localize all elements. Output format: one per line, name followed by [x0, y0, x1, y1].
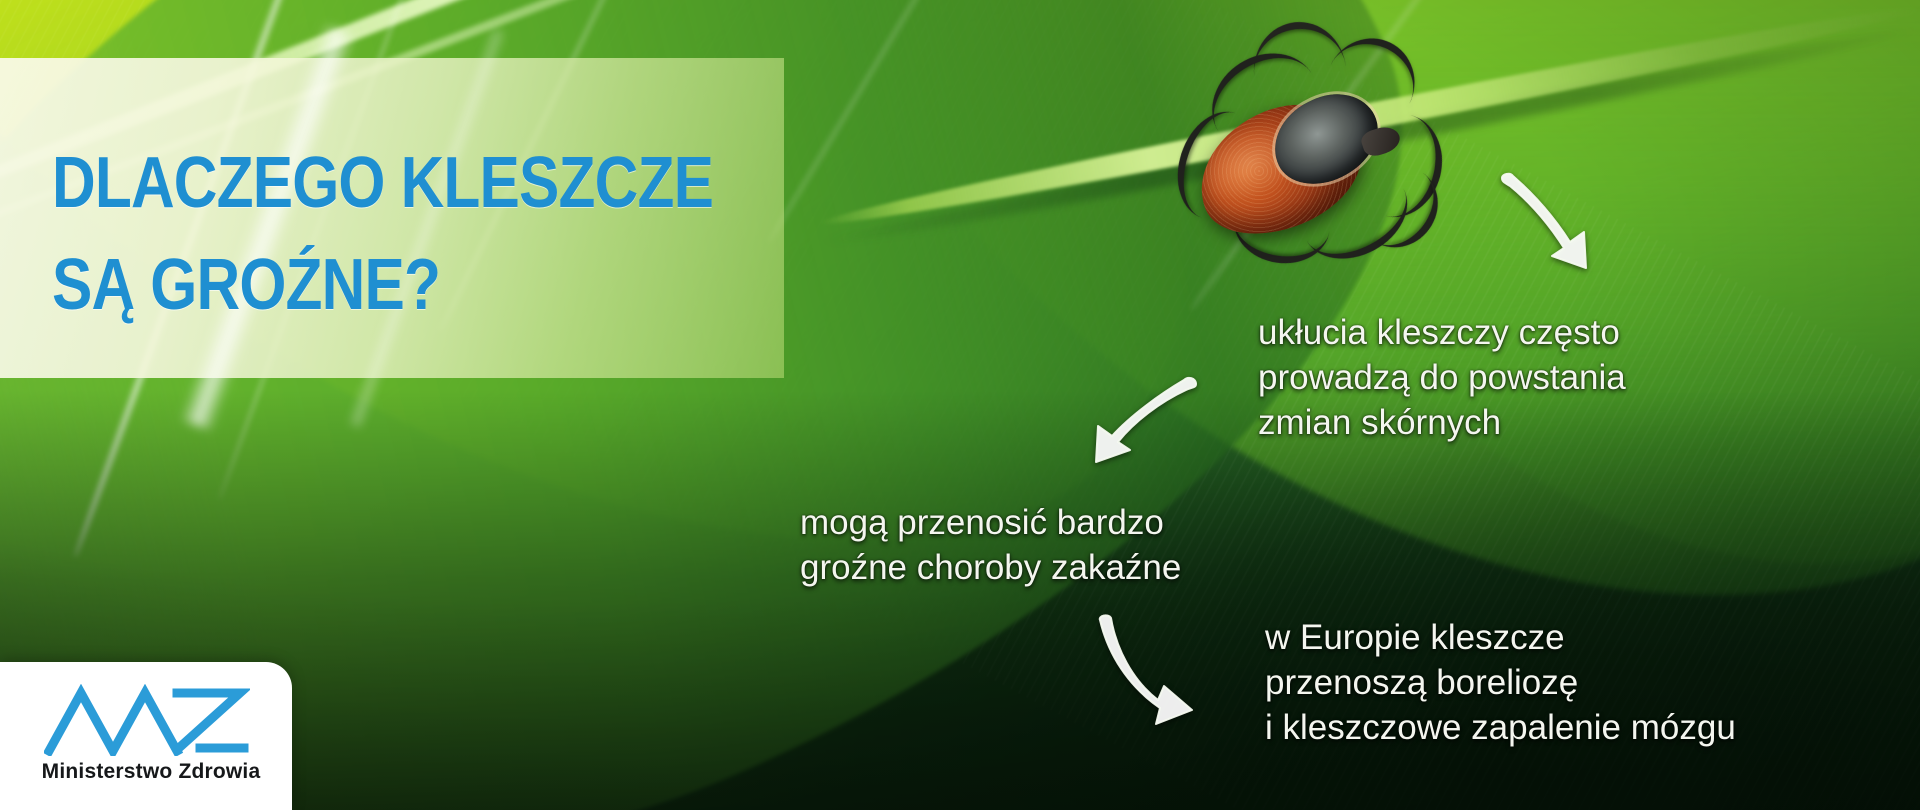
infographic-poster: DLACZEGO KLESZCZE SĄ GROŹNE? ukłucia kle… [0, 0, 1920, 810]
tick-photo [1150, 18, 1450, 268]
curved-arrow-down-left-icon [1072, 374, 1200, 466]
curved-arrow-down-right-icon [1498, 172, 1628, 277]
page-title: DLACZEGO KLESZCZE SĄ GROŹNE? [52, 132, 752, 336]
title-panel: DLACZEGO KLESZCZE SĄ GROŹNE? [0, 58, 784, 378]
curved-arrow-down-right-icon [1094, 614, 1222, 732]
title-line-2: SĄ GROŹNE? [52, 234, 640, 336]
callout-infectious-diseases: mogą przenosić bardzo groźne choroby zak… [800, 500, 1181, 590]
ministry-logo-caption: Ministerstwo Zdrowia [36, 760, 266, 784]
title-line-1: DLACZEGO KLESZCZE [52, 132, 640, 234]
mz-monogram-icon [44, 684, 250, 761]
callout-europe-diseases: w Europie kleszcze przenoszą boreliozę i… [1265, 615, 1736, 750]
callout-skin-lesions: ukłucia kleszczy często prowadzą do pows… [1258, 310, 1626, 445]
ministry-logo-card: Ministerstwo Zdrowia [0, 662, 292, 810]
